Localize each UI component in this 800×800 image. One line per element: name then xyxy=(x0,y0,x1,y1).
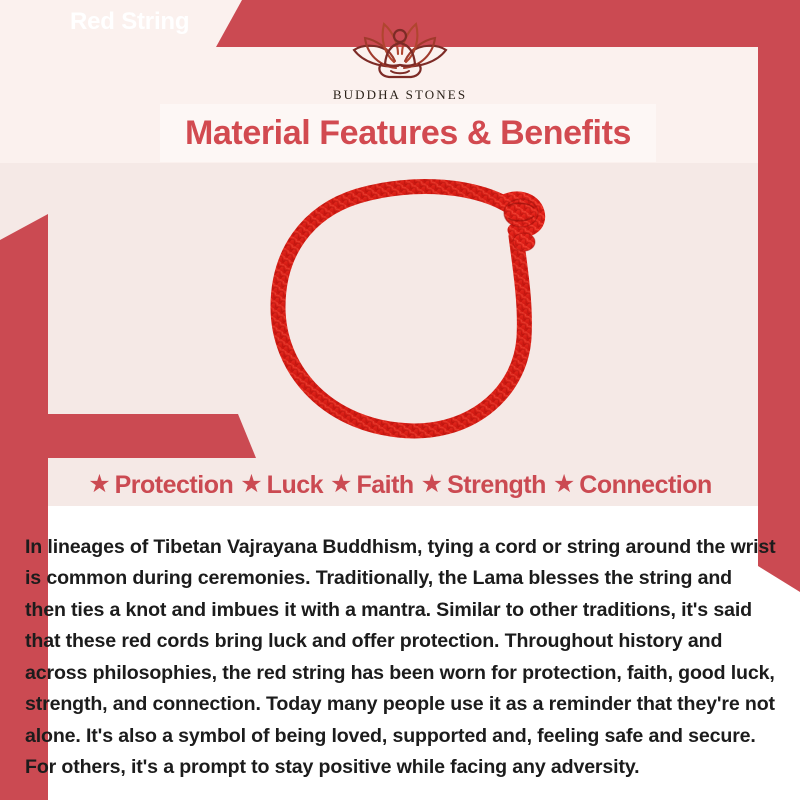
page-title: Material Features & Benefits xyxy=(160,104,656,162)
benefit-item: ★ Protection xyxy=(88,471,233,500)
star-icon: ★ xyxy=(330,472,352,497)
benefit-item: ★ Strength xyxy=(421,471,546,500)
star-icon: ★ xyxy=(88,472,110,497)
product-label: Red String xyxy=(70,0,189,44)
star-icon: ★ xyxy=(240,472,262,497)
benefit-item: ★ Faith xyxy=(330,471,414,500)
benefit-item: ★ Luck xyxy=(240,471,323,500)
description-text: In lineages of Tibetan Vajrayana Buddhis… xyxy=(25,532,777,784)
infographic-page: BUDDHA STONES Material Features & Benefi… xyxy=(0,0,800,800)
benefit-label: Faith xyxy=(356,471,413,500)
benefit-label: Strength xyxy=(447,471,546,500)
benefit-label: Protection xyxy=(115,471,234,500)
page-title-band: Material Features & Benefits xyxy=(160,104,656,162)
star-icon: ★ xyxy=(421,472,443,497)
benefits-row: ★ Protection ★ Luck ★ Faith ★ Strength ★… xyxy=(44,466,756,504)
lotus-meditation-icon xyxy=(341,14,459,84)
product-label-banner xyxy=(0,414,256,458)
product-image-red-string-bracelet xyxy=(262,172,562,450)
benefit-label: Connection xyxy=(579,471,712,500)
benefit-item: ★ Connection xyxy=(553,471,712,500)
brand-wordmark: BUDDHA STONES xyxy=(0,87,800,103)
star-icon: ★ xyxy=(553,472,575,497)
benefit-label: Luck xyxy=(267,471,323,500)
